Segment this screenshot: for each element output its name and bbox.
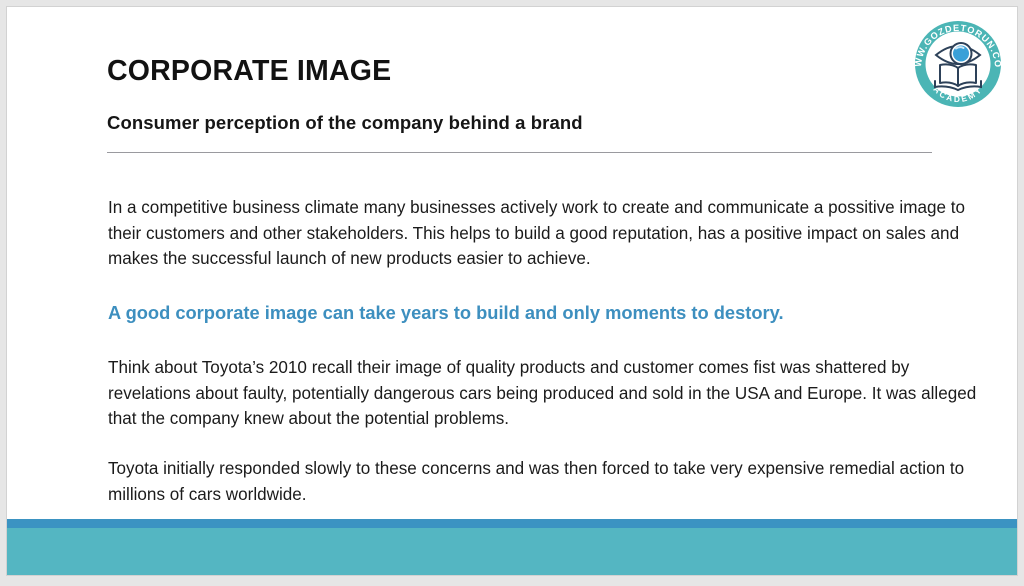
open-book-icon [940, 64, 976, 86]
academy-logo: WWW.GOZDETORUN.COM ACADEMY [907, 13, 1009, 115]
page-subtitle: Consumer perception of the company behin… [107, 112, 583, 134]
paragraph-toyota-response: Toyota initially responded slowly to the… [108, 456, 980, 507]
header-divider [107, 152, 932, 153]
footer-band [7, 528, 1017, 575]
slide-content-area: CORPORATE IMAGE Consumer perception of t… [7, 7, 1017, 575]
paragraph-toyota-recall: Think about Toyota’s 2010 recall their i… [108, 355, 980, 432]
slide-frame: CORPORATE IMAGE Consumer perception of t… [6, 6, 1018, 576]
page-title: CORPORATE IMAGE [107, 55, 391, 88]
footer-accent-stripe [7, 519, 1017, 528]
paragraph-intro: In a competitive business climate many b… [108, 195, 980, 272]
highlight-statement: A good corporate image can take years to… [108, 301, 988, 325]
